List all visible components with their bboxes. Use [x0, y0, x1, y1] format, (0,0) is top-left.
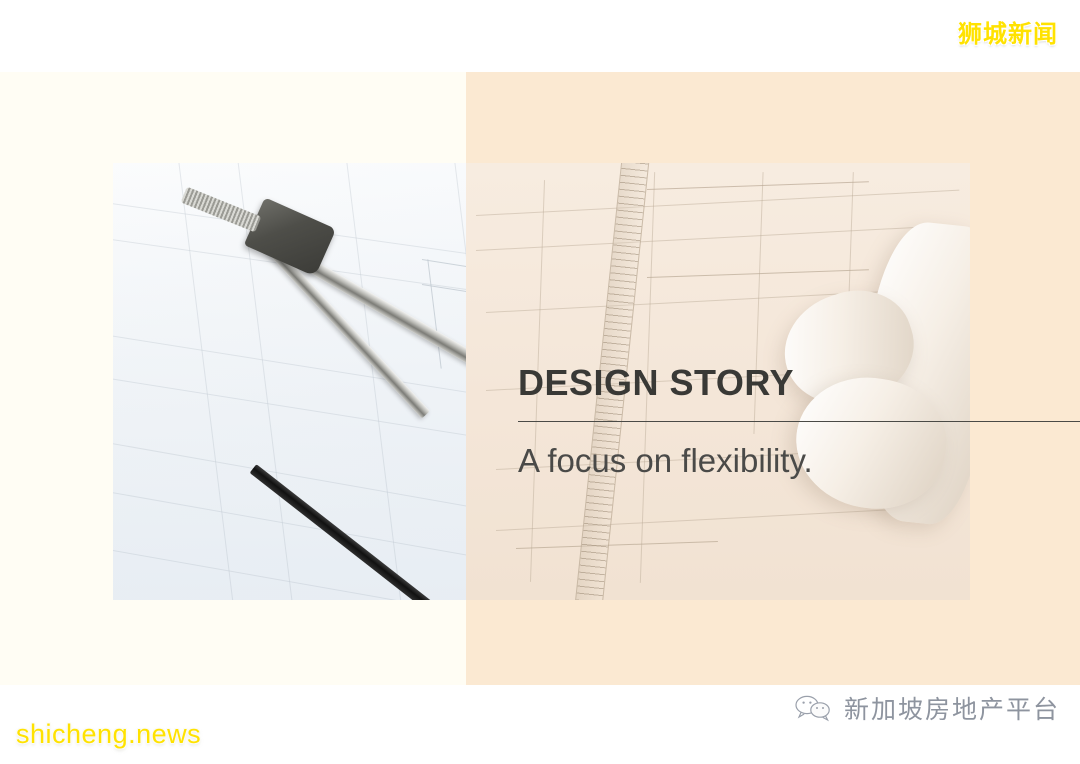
compass-knurled-grip: [181, 187, 262, 233]
watermark-site-url: shicheng.news: [16, 719, 201, 750]
drafting-compass: [173, 193, 513, 483]
compass-leg: [265, 243, 430, 419]
watermark-top-right: 狮城新闻: [958, 14, 1058, 49]
wechat-icon: [794, 693, 834, 723]
watermark-bottom-right: 新加坡房地产平台: [794, 690, 1060, 726]
page-subtitle: A focus on flexibility.: [518, 442, 813, 480]
slide-canvas: DESIGN STORY A focus on flexibility. 狮城新…: [0, 0, 1080, 764]
wechat-account-name: 新加坡房地产平台: [844, 690, 1060, 726]
page-title: DESIGN STORY: [518, 362, 794, 404]
title-divider: [518, 421, 1080, 422]
